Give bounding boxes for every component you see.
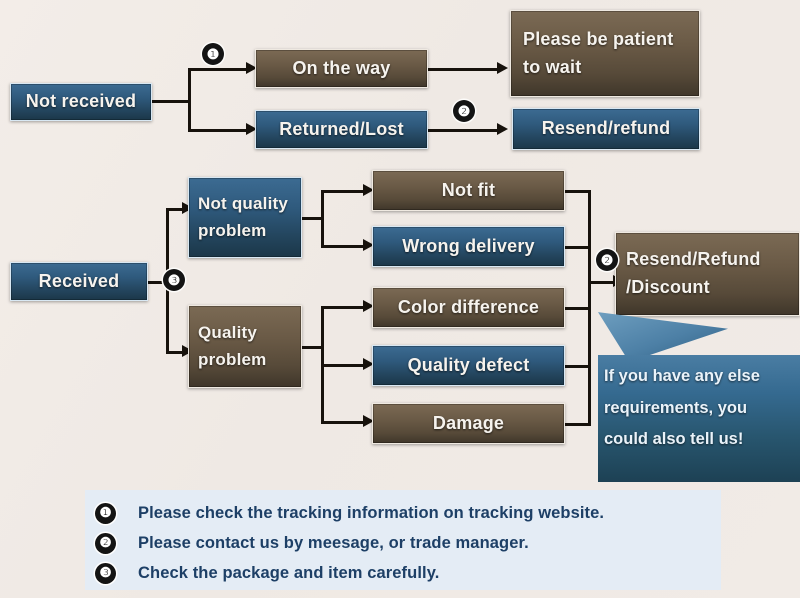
connector-to-color-difference xyxy=(321,306,367,309)
legend-badge-one: ❶ xyxy=(95,503,116,524)
badge-two-inline-top: ❷ xyxy=(453,100,475,122)
legend-badge-two: ❷ xyxy=(95,533,116,554)
node-wrong-delivery[interactable]: Wrong delivery xyxy=(372,226,565,267)
flowchart-canvas: Not received On the way Returned/Lost Pl… xyxy=(0,0,800,598)
connector-on-the-way-to-patient xyxy=(428,68,500,71)
legend-item: ❶ Please check the tracking information … xyxy=(85,498,721,528)
node-please-be-patient-to-wait[interactable]: Please be patient to wait xyxy=(510,10,700,97)
connector-not-received-bus xyxy=(188,68,191,132)
connector-to-on-the-way xyxy=(188,68,250,71)
legend-text-one: Please check the tracking information on… xyxy=(138,504,604,523)
badge-three-inline: ❸ xyxy=(163,269,185,291)
node-resend-refund[interactable]: Resend/refund xyxy=(512,108,700,150)
legend-text-three: Check the package and item carefully. xyxy=(138,564,439,583)
connector-to-quality-defect xyxy=(321,364,367,367)
legend-panel: ❶ Please check the tracking information … xyxy=(85,490,721,590)
node-received[interactable]: Received xyxy=(10,262,148,301)
connector-to-not-fit xyxy=(321,190,367,193)
legend-item: ❸ Check the package and item carefully. xyxy=(85,558,721,588)
connector-not-quality-bus xyxy=(321,190,324,247)
legend-badge-three: ❸ xyxy=(95,563,116,584)
node-on-the-way[interactable]: On the way xyxy=(255,49,428,88)
legend-item: ❷ Please contact us by meesage, or trade… xyxy=(85,528,721,558)
node-color-difference[interactable]: Color difference xyxy=(372,287,565,328)
arrowhead-to-patient xyxy=(497,62,508,74)
connector-to-damage xyxy=(321,421,367,424)
merge-bus xyxy=(588,190,591,426)
speech-bubble-text: If you have any else requirements, you c… xyxy=(598,355,800,482)
speech-bubble: If you have any else requirements, you c… xyxy=(598,310,800,482)
badge-one-inline: ❶ xyxy=(202,43,224,65)
node-not-quality-problem[interactable]: Not quality problem xyxy=(188,177,302,258)
badge-two-inline-middle: ❷ xyxy=(596,249,618,271)
node-damage[interactable]: Damage xyxy=(372,403,565,444)
node-quality-defect[interactable]: Quality defect xyxy=(372,345,565,386)
connector-returned-to-resend xyxy=(428,129,500,132)
node-not-fit[interactable]: Not fit xyxy=(372,170,565,211)
node-resend-refund-discount[interactable]: Resend/Refund /Discount xyxy=(615,232,800,316)
connector-to-returned-lost xyxy=(188,129,250,132)
node-returned-lost[interactable]: Returned/Lost xyxy=(255,110,428,149)
node-not-received[interactable]: Not received xyxy=(10,83,152,121)
node-quality-problem[interactable]: Quality problem xyxy=(188,305,302,388)
connector-not-received-stem xyxy=(152,100,190,103)
connector-to-wrong-delivery xyxy=(321,245,367,248)
arrowhead-to-resend xyxy=(497,123,508,135)
legend-text-two: Please contact us by meesage, or trade m… xyxy=(138,534,529,553)
